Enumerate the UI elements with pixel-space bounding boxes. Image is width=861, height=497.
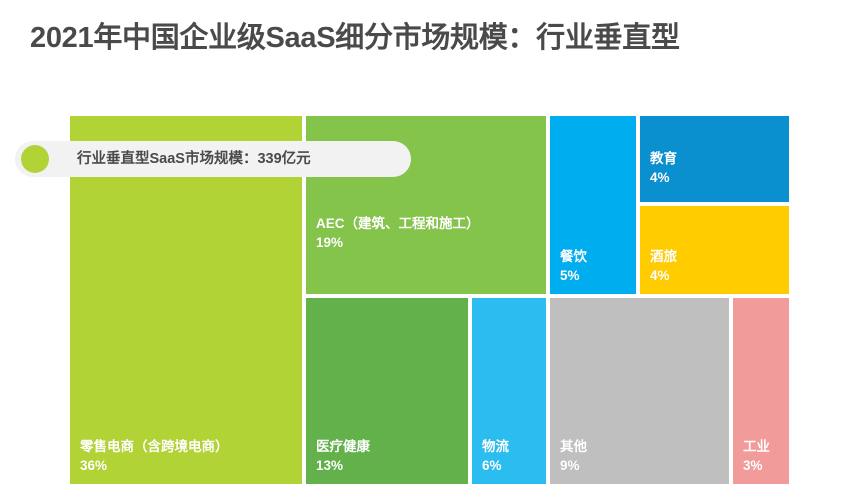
treemap-tile-percent: 4% [650, 168, 677, 188]
treemap-tile-name: 餐饮 [560, 249, 587, 264]
treemap-tile-label: 零售电商（含跨境电商）36% [80, 437, 229, 476]
treemap-tile-percent: 3% [743, 456, 770, 476]
treemap-tile[interactable]: 医疗健康13% [306, 298, 468, 484]
treemap-tile-percent: 13% [316, 456, 370, 476]
treemap-tile-name: 工业 [743, 439, 770, 454]
treemap-tile-label: 教育4% [650, 149, 677, 188]
treemap-tile-name: 医疗健康 [316, 439, 370, 454]
treemap-tile-label: 医疗健康13% [316, 437, 370, 476]
treemap-tile-label: 餐饮5% [560, 247, 587, 286]
treemap-tile-percent: 19% [316, 233, 480, 253]
summary-badge: 行业垂直型SaaS市场规模：339亿元 [15, 141, 411, 177]
treemap-tile-name: AEC（建筑、工程和施工） [316, 216, 480, 231]
treemap-tile-percent: 5% [560, 266, 587, 286]
treemap-tile[interactable]: 酒旅4% [640, 206, 789, 294]
treemap-tile-label: 工业3% [743, 437, 770, 476]
summary-badge-dot-icon [21, 145, 49, 173]
treemap-tile-label: 物流6% [482, 437, 509, 476]
treemap-tile-label: 酒旅4% [650, 247, 677, 286]
treemap-tile[interactable]: 餐饮5% [550, 116, 636, 294]
treemap-tile-percent: 4% [650, 266, 677, 286]
treemap-tile-label: 其他9% [560, 437, 587, 476]
treemap-tile-name: 零售电商（含跨境电商） [80, 439, 229, 454]
treemap-tile-name: 教育 [650, 151, 677, 166]
treemap-tile[interactable]: 物流6% [472, 298, 546, 484]
treemap-tile-name: 其他 [560, 439, 587, 454]
treemap-tile-name: 物流 [482, 439, 509, 454]
treemap-chart: 零售电商（含跨境电商）36%AEC（建筑、工程和施工）19%医疗健康13%物流6… [0, 0, 861, 497]
summary-badge-label: 行业垂直型SaaS市场规模：339亿元 [77, 141, 311, 177]
treemap-tile-percent: 6% [482, 456, 509, 476]
treemap-tile-percent: 36% [80, 456, 229, 476]
treemap-tile-percent: 9% [560, 456, 587, 476]
treemap-tile-name: 酒旅 [650, 249, 677, 264]
treemap-tile[interactable]: 教育4% [640, 116, 789, 202]
treemap-tile[interactable]: 工业3% [733, 298, 789, 484]
treemap-tile-label: AEC（建筑、工程和施工）19% [316, 214, 480, 253]
treemap-tile[interactable]: 其他9% [550, 298, 729, 484]
